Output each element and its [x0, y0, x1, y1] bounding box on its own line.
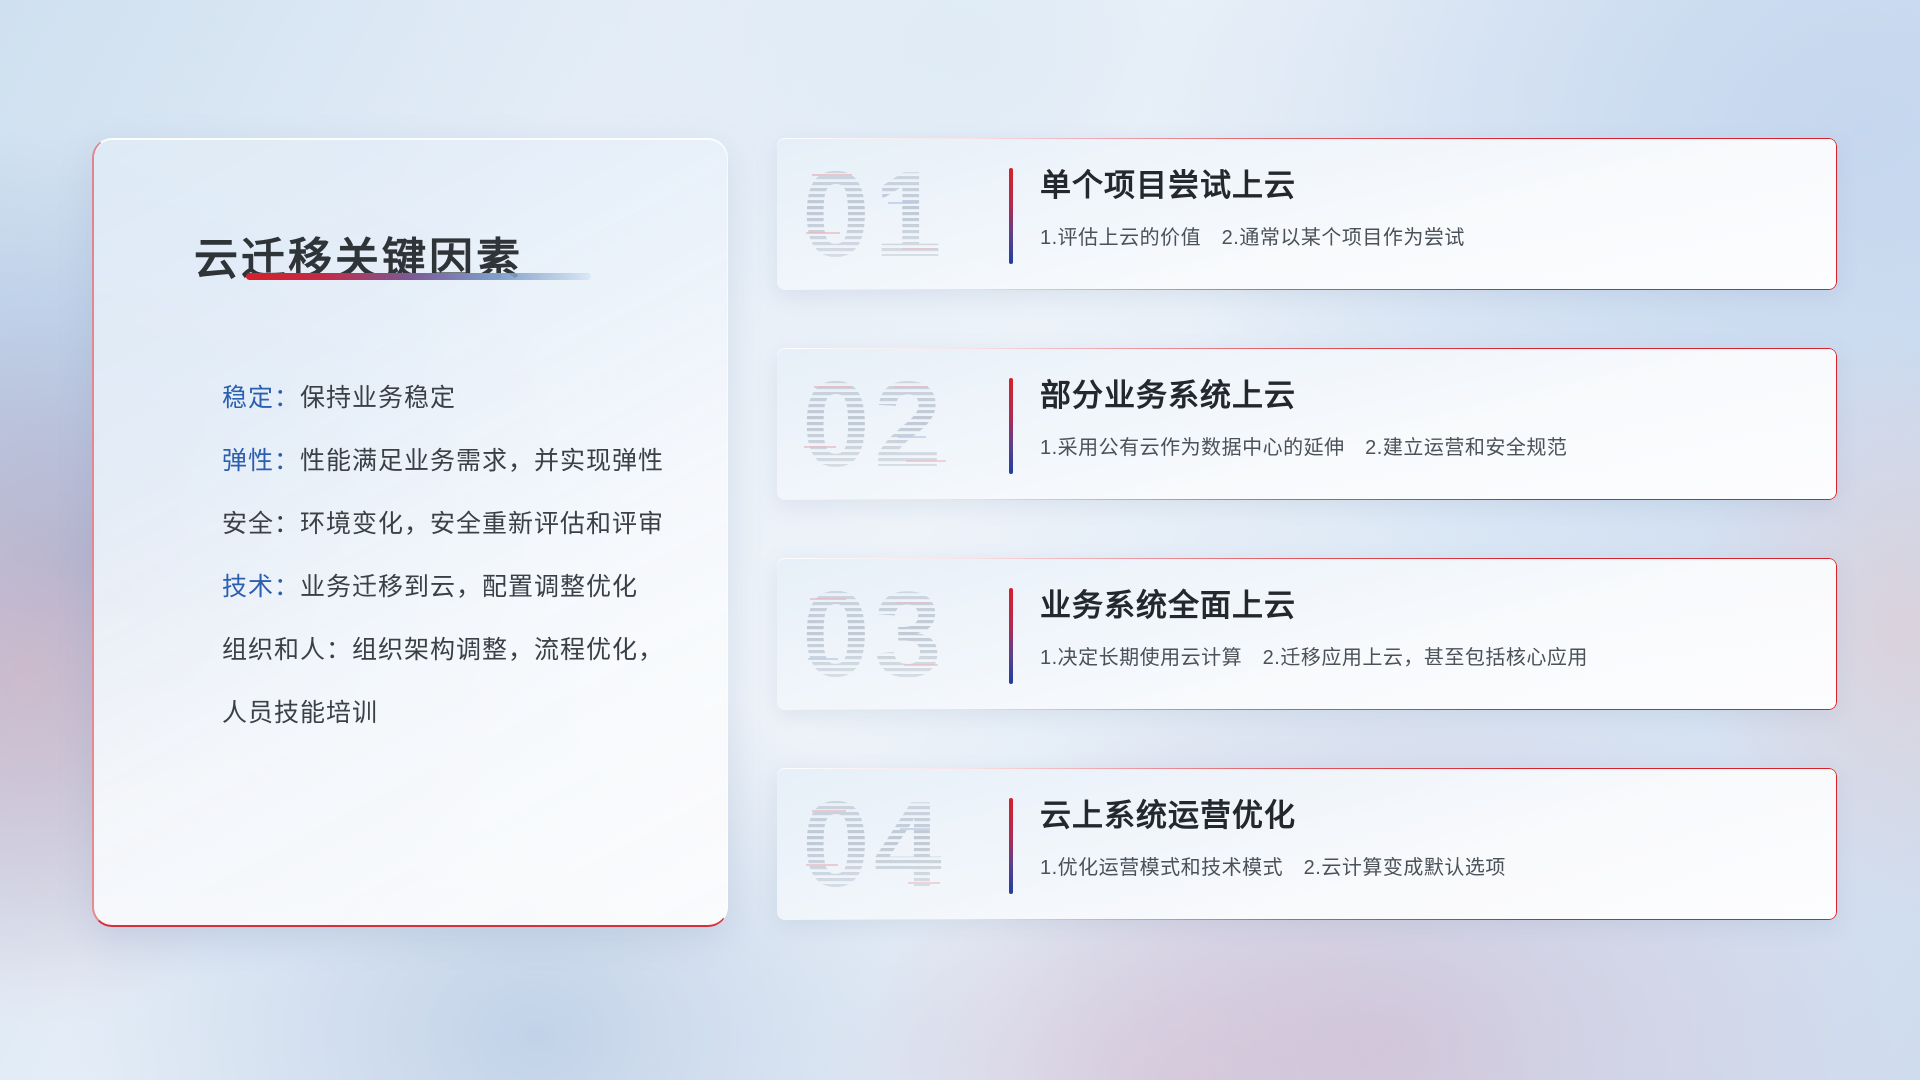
stage-divider-bar	[1009, 168, 1013, 264]
factor-text: 业务迁移到云，配置调整优化	[300, 573, 638, 601]
svg-text:04: 04	[802, 782, 946, 908]
factor-text: 环境变化，安全重新评估和评审	[300, 510, 664, 538]
stage-card[interactable]: 04 云上系统运营优化 1.优化运营模式和技术模式 2.云计算变成默认选项	[777, 768, 1837, 920]
factor-label: 技术：	[222, 573, 300, 601]
stage-description: 1.采用公有云作为数据中心的延伸 2.建立运营和安全规范	[1040, 431, 1813, 460]
svg-text:01: 01	[802, 152, 946, 278]
stage-divider-bar	[1009, 588, 1013, 684]
factor-label: 弹性：	[222, 447, 300, 475]
svg-text:03: 03	[802, 572, 946, 698]
factor-label: 稳定：	[222, 384, 300, 412]
title-underline-rule	[246, 273, 591, 280]
stage-card-list: 01 单个项目尝试上云 1.评估上云的价值 2.通常以某个项目作为尝试	[777, 138, 1837, 978]
stage-divider-bar	[1009, 798, 1013, 894]
factor-item-continuation: 人员技能培训	[222, 682, 691, 745]
stage-card[interactable]: 03 业务系统全面上云 1.决定长期使用云计算 2.迁移应用上云，甚至包括核心应…	[777, 558, 1837, 710]
factor-text: 组织架构调整，流程优化，	[352, 636, 664, 664]
stage-title: 部分业务系统上云	[1040, 370, 1813, 415]
factor-label: 组织和人：	[222, 636, 352, 664]
stage-number-watermark: 03	[802, 572, 992, 698]
key-factors-panel: 云迁移关键因素 稳定：保持业务稳定 弹性：性能满足业务需求，并实现弹性 安全：环…	[92, 138, 728, 927]
stage-title: 单个项目尝试上云	[1040, 160, 1813, 205]
stage-title: 云上系统运营优化	[1040, 790, 1813, 835]
factor-item: 稳定：保持业务稳定	[222, 367, 691, 430]
stage-title: 业务系统全面上云	[1040, 580, 1813, 625]
factor-item: 组织和人：组织架构调整，流程优化，	[222, 619, 691, 682]
stage-divider-bar	[1009, 378, 1013, 474]
stage-description: 1.优化运营模式和技术模式 2.云计算变成默认选项	[1040, 851, 1813, 880]
factor-item: 弹性：性能满足业务需求，并实现弹性	[222, 430, 691, 493]
factor-text: 保持业务稳定	[300, 384, 456, 412]
stage-number-watermark: 04	[802, 782, 992, 908]
factor-text: 人员技能培训	[222, 699, 378, 727]
factor-text: 性能满足业务需求，并实现弹性	[300, 447, 664, 475]
factor-label: 安全：	[222, 510, 300, 538]
factor-list: 稳定：保持业务稳定 弹性：性能满足业务需求，并实现弹性 安全：环境变化，安全重新…	[222, 367, 691, 745]
stage-description: 1.决定长期使用云计算 2.迁移应用上云，甚至包括核心应用	[1040, 641, 1813, 670]
factor-item: 安全：环境变化，安全重新评估和评审	[222, 493, 691, 556]
stage-card[interactable]: 02 部分业务系统上云 1.采用公有云作为数据中心的延伸 2.建立运营和安全规范	[777, 348, 1837, 500]
stage-number-watermark: 01	[802, 152, 992, 278]
stage-card-body: 业务系统全面上云 1.决定长期使用云计算 2.迁移应用上云，甚至包括核心应用	[1040, 580, 1813, 670]
stage-card[interactable]: 01 单个项目尝试上云 1.评估上云的价值 2.通常以某个项目作为尝试	[777, 138, 1837, 290]
stage-description: 1.评估上云的价值 2.通常以某个项目作为尝试	[1040, 221, 1813, 250]
svg-text:02: 02	[802, 362, 946, 488]
stage-number-watermark: 02	[802, 362, 992, 488]
factor-item: 技术：业务迁移到云，配置调整优化	[222, 556, 691, 619]
stage-card-body: 单个项目尝试上云 1.评估上云的价值 2.通常以某个项目作为尝试	[1040, 160, 1813, 250]
stage-card-body: 部分业务系统上云 1.采用公有云作为数据中心的延伸 2.建立运营和安全规范	[1040, 370, 1813, 460]
stage-card-body: 云上系统运营优化 1.优化运营模式和技术模式 2.云计算变成默认选项	[1040, 790, 1813, 880]
